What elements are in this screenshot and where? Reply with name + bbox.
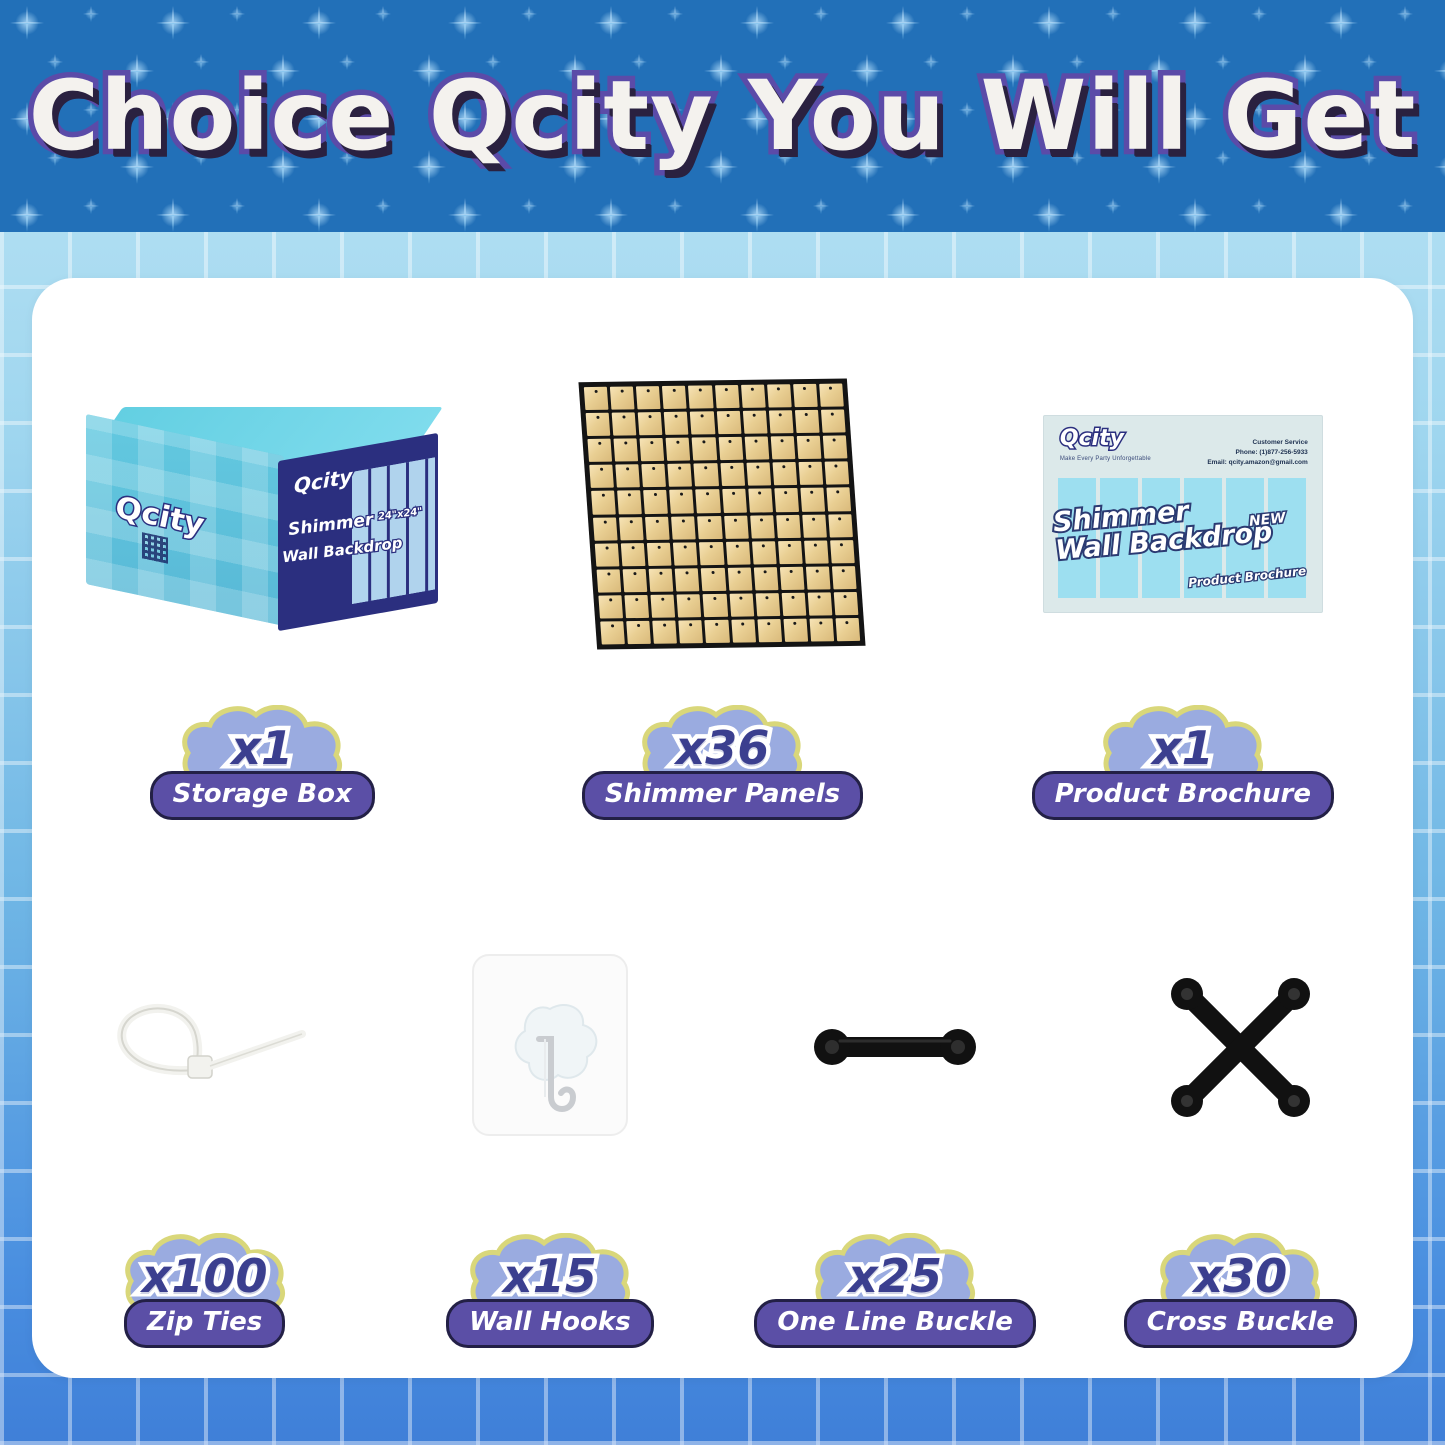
sequin-square bbox=[778, 541, 803, 564]
sequin-square bbox=[694, 464, 719, 487]
sparkle-star-icon bbox=[229, 6, 245, 22]
sequin-square bbox=[806, 566, 831, 589]
sequin-square bbox=[804, 540, 829, 563]
item-wall-hooks: x15 Wall Hooks bbox=[377, 868, 722, 1348]
sparkle-star-icon bbox=[302, 198, 336, 232]
label-storage-box: Storage Box bbox=[150, 771, 375, 820]
sequin-square bbox=[623, 569, 648, 592]
brochure-image: Qcity Make Every Party Unforgettable Cus… bbox=[1043, 415, 1323, 613]
sequin-square bbox=[728, 568, 753, 591]
sequin-square bbox=[756, 593, 781, 616]
zip-tie-art bbox=[32, 868, 377, 1227]
sparkle-star-icon bbox=[521, 6, 537, 22]
sequin-square bbox=[612, 413, 637, 436]
sequin-square bbox=[769, 411, 794, 434]
brochure-customer-service: Customer Service Phone: (1)877-256-5933 … bbox=[1207, 438, 1308, 468]
sparkle-star-icon bbox=[302, 6, 336, 40]
sparkle-star-icon bbox=[10, 198, 44, 232]
sequin-square bbox=[584, 387, 609, 410]
header-banner: Choice Qcity You Will Get bbox=[0, 0, 1445, 232]
sequin-square bbox=[731, 620, 756, 643]
sequin-square bbox=[586, 413, 611, 436]
sequin-square bbox=[621, 543, 646, 566]
brochure-art: Qcity Make Every Party Unforgettable Cus… bbox=[953, 330, 1413, 699]
sequin-square bbox=[724, 515, 749, 538]
sparkle-star-icon bbox=[521, 198, 537, 214]
sparkle-star-icon bbox=[1105, 6, 1121, 22]
sparkle-star-icon bbox=[156, 6, 190, 40]
sparkle-star-icon bbox=[1178, 198, 1212, 232]
sequin-square bbox=[689, 386, 714, 409]
sparkle-star-icon bbox=[594, 198, 628, 232]
sequin-square bbox=[601, 621, 626, 644]
sequin-square bbox=[750, 515, 775, 538]
sequin-square bbox=[793, 384, 818, 407]
sequin-square bbox=[610, 387, 635, 410]
sparkle-star-icon bbox=[959, 6, 975, 22]
page-title: Choice Qcity You Will Get bbox=[0, 60, 1445, 172]
zip-tie-icon bbox=[90, 992, 320, 1102]
sequin-square bbox=[663, 386, 688, 409]
cross-buckle-icon bbox=[1153, 960, 1328, 1135]
sparkle-star-icon bbox=[1032, 198, 1066, 232]
sequin-square bbox=[592, 491, 617, 514]
sparkle-star-icon bbox=[740, 198, 774, 232]
sparkle-star-icon bbox=[667, 6, 683, 22]
sparkle-star-icon bbox=[375, 198, 391, 214]
sequin-square bbox=[653, 621, 678, 644]
sequin-square bbox=[638, 412, 663, 435]
storage-box-image: Qcity Qcity Shimmer Wall Backdrop 24"x24… bbox=[82, 407, 442, 622]
label-zip-ties: Zip Ties bbox=[124, 1299, 285, 1348]
sequin-square bbox=[797, 436, 822, 459]
sparkle-star-icon bbox=[1324, 6, 1358, 40]
item-zip-ties: x100 Zip Ties bbox=[32, 868, 377, 1348]
badge-one-line-buckle: x25 One Line Buckle bbox=[754, 1233, 1036, 1348]
sparkle-star-icon bbox=[886, 6, 920, 40]
sequin-square bbox=[618, 491, 643, 514]
sequin-square bbox=[625, 595, 650, 618]
sparkle-star-icon bbox=[448, 198, 482, 232]
content-card: Qcity Qcity Shimmer Wall Backdrop 24"x24… bbox=[32, 278, 1413, 1378]
sequin-square bbox=[752, 541, 777, 564]
one-line-buckle-art bbox=[723, 868, 1068, 1227]
sequin-square bbox=[803, 514, 828, 537]
quantity-cross-buckle: x30 bbox=[1194, 1253, 1288, 1299]
badge-zip-ties: x100 Zip Ties bbox=[119, 1233, 291, 1348]
sequin-square bbox=[810, 619, 835, 642]
cs-heading: Customer Service bbox=[1207, 438, 1308, 448]
sparkle-star-icon bbox=[229, 198, 245, 214]
sequin-square bbox=[642, 465, 667, 488]
item-cross-buckle: x30 Cross Buckle bbox=[1068, 868, 1413, 1348]
badge-storage-box: x1 Storage Box bbox=[150, 705, 375, 820]
storage-box-art: Qcity Qcity Shimmer Wall Backdrop 24"x24… bbox=[32, 330, 492, 699]
sparkle-star-icon bbox=[1397, 6, 1413, 22]
cs-phone: Phone: (1)877-256-5933 bbox=[1207, 448, 1308, 458]
sparkle-star-icon bbox=[156, 198, 190, 232]
sequin-square bbox=[705, 620, 730, 643]
box-qr-code bbox=[142, 532, 168, 564]
brochure-tagline: Make Every Party Unforgettable bbox=[1060, 456, 1151, 462]
sequin-square bbox=[748, 489, 773, 512]
label-product-brochure: Product Brochure bbox=[1032, 771, 1334, 820]
sparkle-star-icon bbox=[1397, 198, 1413, 214]
sequin-square bbox=[820, 384, 845, 407]
item-shimmer-panels: x36 Shimmer Panels bbox=[492, 330, 952, 820]
sparkle-star-icon bbox=[448, 6, 482, 40]
sequin-square bbox=[588, 439, 613, 462]
sparkle-star-icon bbox=[594, 6, 628, 40]
cs-email: Email: qcity.amazon@gmail.com bbox=[1207, 458, 1308, 468]
badge-wall-hooks: x15 Wall Hooks bbox=[446, 1233, 654, 1348]
sequin-square bbox=[808, 593, 833, 616]
sequin-square bbox=[674, 542, 699, 565]
sparkle-star-icon bbox=[1105, 198, 1121, 214]
sequin-square bbox=[597, 569, 622, 592]
sequin-square bbox=[782, 593, 807, 616]
sequin-square bbox=[745, 437, 770, 460]
sparkle-star-icon bbox=[375, 6, 391, 22]
sequin-square bbox=[832, 566, 857, 589]
sequin-square bbox=[720, 463, 745, 486]
sequin-square bbox=[741, 385, 766, 408]
sequin-square bbox=[644, 491, 669, 514]
shimmer-panel-art bbox=[492, 330, 952, 699]
sequin-square bbox=[679, 620, 704, 643]
sequin-square bbox=[821, 410, 846, 433]
sequin-square bbox=[747, 463, 772, 486]
sparkle-star-icon bbox=[740, 6, 774, 40]
quantity-zip-ties: x100 bbox=[142, 1253, 268, 1299]
sequin-square bbox=[593, 517, 618, 540]
sparkle-star-icon bbox=[83, 6, 99, 22]
sequin-square bbox=[692, 438, 717, 461]
one-line-buckle-icon bbox=[800, 1007, 990, 1087]
sparkle-star-icon bbox=[813, 198, 829, 214]
sequin-square bbox=[670, 490, 695, 513]
sequin-square bbox=[719, 437, 744, 460]
sparkle-star-icon bbox=[10, 6, 44, 40]
sequin-square bbox=[717, 411, 742, 434]
sequin-square bbox=[784, 619, 809, 642]
sparkle-star-icon bbox=[1251, 198, 1267, 214]
quantity-product-brochure: x1 bbox=[1152, 725, 1214, 771]
sequin-square bbox=[834, 592, 859, 615]
sequin-square bbox=[640, 438, 665, 461]
sequin-square bbox=[829, 514, 854, 537]
sequin-square bbox=[758, 619, 783, 642]
label-shimmer-panels: Shimmer Panels bbox=[582, 771, 863, 820]
sequin-square bbox=[590, 465, 615, 488]
sparkle-star-icon bbox=[886, 198, 920, 232]
sparkle-star-icon bbox=[1251, 6, 1267, 22]
brochure-brand-logo: Qcity bbox=[1060, 426, 1124, 451]
quantity-one-line-buckle: x25 bbox=[848, 1253, 942, 1299]
sequin-square bbox=[614, 439, 639, 462]
sequin-square bbox=[703, 594, 728, 617]
sequin-square bbox=[776, 515, 801, 538]
sparkle-star-icon bbox=[813, 6, 829, 22]
wall-hook-icon bbox=[455, 947, 645, 1147]
sequin-square bbox=[799, 462, 824, 485]
label-cross-buckle: Cross Buckle bbox=[1124, 1299, 1357, 1348]
sequin-square bbox=[620, 517, 645, 540]
sequin-square bbox=[595, 543, 620, 566]
item-row-bottom: x100 Zip Ties x15 bbox=[32, 868, 1413, 1348]
item-row-top: Qcity Qcity Shimmer Wall Backdrop 24"x24… bbox=[32, 330, 1413, 820]
sequin-square bbox=[668, 464, 693, 487]
item-storage-box: Qcity Qcity Shimmer Wall Backdrop 24"x24… bbox=[32, 330, 492, 820]
sequin-square bbox=[827, 488, 852, 511]
sequin-square bbox=[637, 386, 662, 409]
sequin-square bbox=[775, 489, 800, 512]
sequin-square bbox=[672, 516, 697, 539]
item-one-line-buckle: x25 One Line Buckle bbox=[723, 868, 1068, 1348]
shimmer-panel-image bbox=[579, 379, 866, 650]
sequin-square bbox=[801, 488, 826, 511]
sequin-square bbox=[830, 540, 855, 563]
quantity-storage-box: x1 bbox=[231, 725, 293, 771]
sparkle-star-icon bbox=[667, 198, 683, 214]
sequin-square bbox=[666, 438, 691, 461]
sparkle-star-icon bbox=[83, 198, 99, 214]
sequin-square bbox=[722, 489, 747, 512]
sequin-square bbox=[646, 517, 671, 540]
quantity-wall-hooks: x15 bbox=[503, 1253, 597, 1299]
sequin-square bbox=[677, 594, 702, 617]
sequin-square bbox=[823, 436, 848, 459]
sequin-square bbox=[773, 463, 798, 486]
sequin-square bbox=[616, 465, 641, 488]
sequin-square bbox=[700, 542, 725, 565]
sequin-square bbox=[702, 568, 727, 591]
sequin-square bbox=[780, 567, 805, 590]
sequin-square bbox=[675, 568, 700, 591]
sequin-square bbox=[649, 569, 674, 592]
sequin-square bbox=[698, 516, 723, 539]
label-wall-hooks: Wall Hooks bbox=[446, 1299, 654, 1348]
sequin-square bbox=[715, 385, 740, 408]
sequin-square bbox=[647, 543, 672, 566]
item-product-brochure: Qcity Make Every Party Unforgettable Cus… bbox=[953, 330, 1413, 820]
badge-cross-buckle: x30 Cross Buckle bbox=[1124, 1233, 1357, 1348]
label-one-line-buckle: One Line Buckle bbox=[754, 1299, 1036, 1348]
sparkle-star-icon bbox=[959, 198, 975, 214]
sequin-square bbox=[795, 410, 820, 433]
sequin-square bbox=[825, 462, 850, 485]
sequin-square bbox=[730, 594, 755, 617]
wall-hook-art bbox=[377, 868, 722, 1227]
sparkle-star-icon bbox=[1032, 6, 1066, 40]
sequin-square bbox=[627, 621, 652, 644]
sequin-square bbox=[836, 618, 861, 641]
cross-buckle-art bbox=[1068, 868, 1413, 1227]
sequin-square bbox=[743, 411, 768, 434]
sequin-square bbox=[651, 595, 676, 618]
sequin-square bbox=[691, 412, 716, 435]
sequin-square bbox=[665, 412, 690, 435]
sparkle-star-icon bbox=[1324, 198, 1358, 232]
sequin-square bbox=[696, 490, 721, 513]
badge-shimmer-panels: x36 Shimmer Panels bbox=[582, 705, 863, 820]
sequin-square bbox=[754, 567, 779, 590]
sequin-square bbox=[771, 437, 796, 460]
sequin-square bbox=[767, 385, 792, 408]
sparkle-star-icon bbox=[1178, 6, 1212, 40]
badge-product-brochure: x1 Product Brochure bbox=[1032, 705, 1334, 820]
quantity-shimmer-panels: x36 bbox=[676, 725, 770, 771]
sequin-square bbox=[726, 542, 751, 565]
sequin-square bbox=[599, 595, 624, 618]
